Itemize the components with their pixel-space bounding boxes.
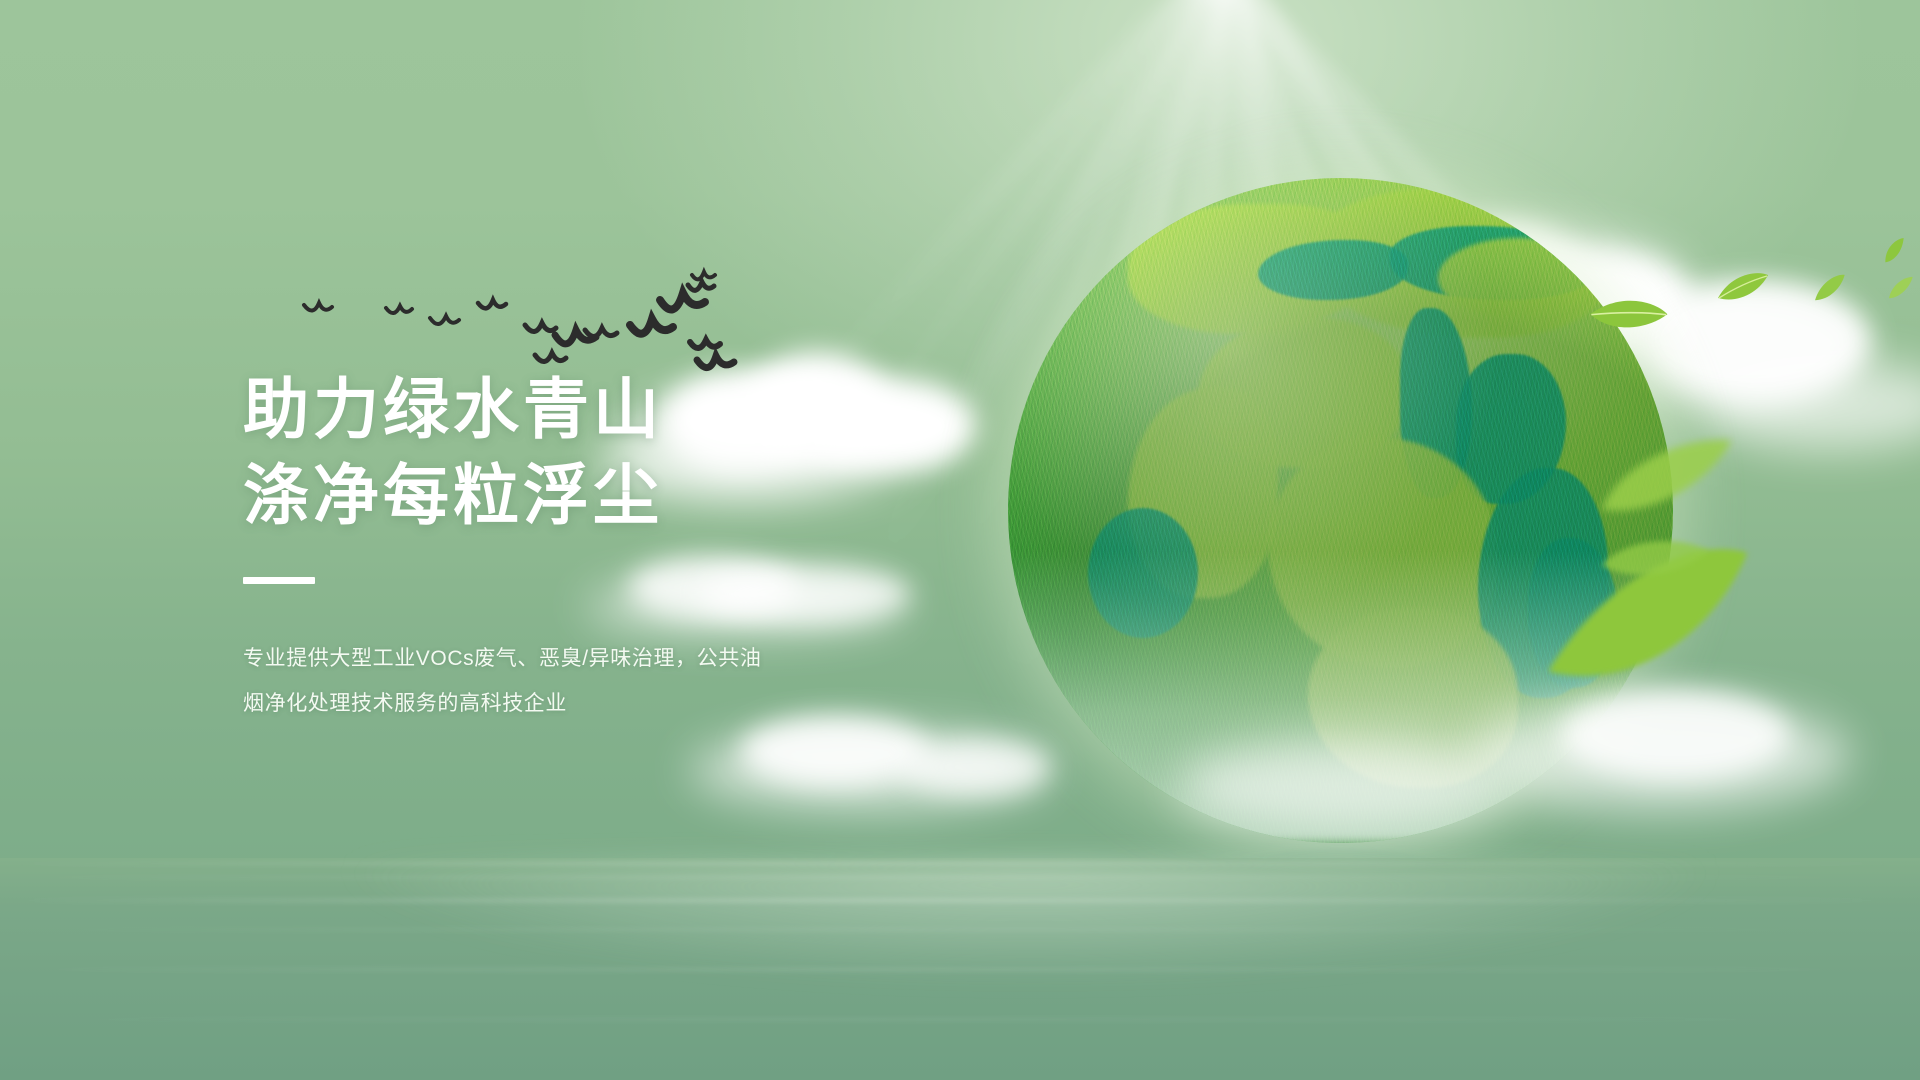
headline-line-1: 助力绿水青山 [243,366,943,452]
water-highlight [330,862,1730,982]
headline-line-2: 涤净每粒浮尘 [243,452,943,538]
headline-divider [243,577,315,584]
leaf-icon [1882,273,1919,304]
hero-banner: 助力绿水青山 涤净每粒浮尘 专业提供大型工业VOCs废气、恶臭/异味治理，公共油… [0,0,1920,1080]
leaf-icon [1715,268,1771,308]
leaf-icon [1807,269,1853,306]
hero-copy: 助力绿水青山 涤净每粒浮尘 专业提供大型工业VOCs废气、恶臭/异味治理，公共油… [243,366,943,726]
leaf-icon [1877,234,1914,268]
hero-description: 专业提供大型工业VOCs废气、恶臭/异味治理，公共油烟净化处理技术服务的高科技企… [243,636,773,726]
